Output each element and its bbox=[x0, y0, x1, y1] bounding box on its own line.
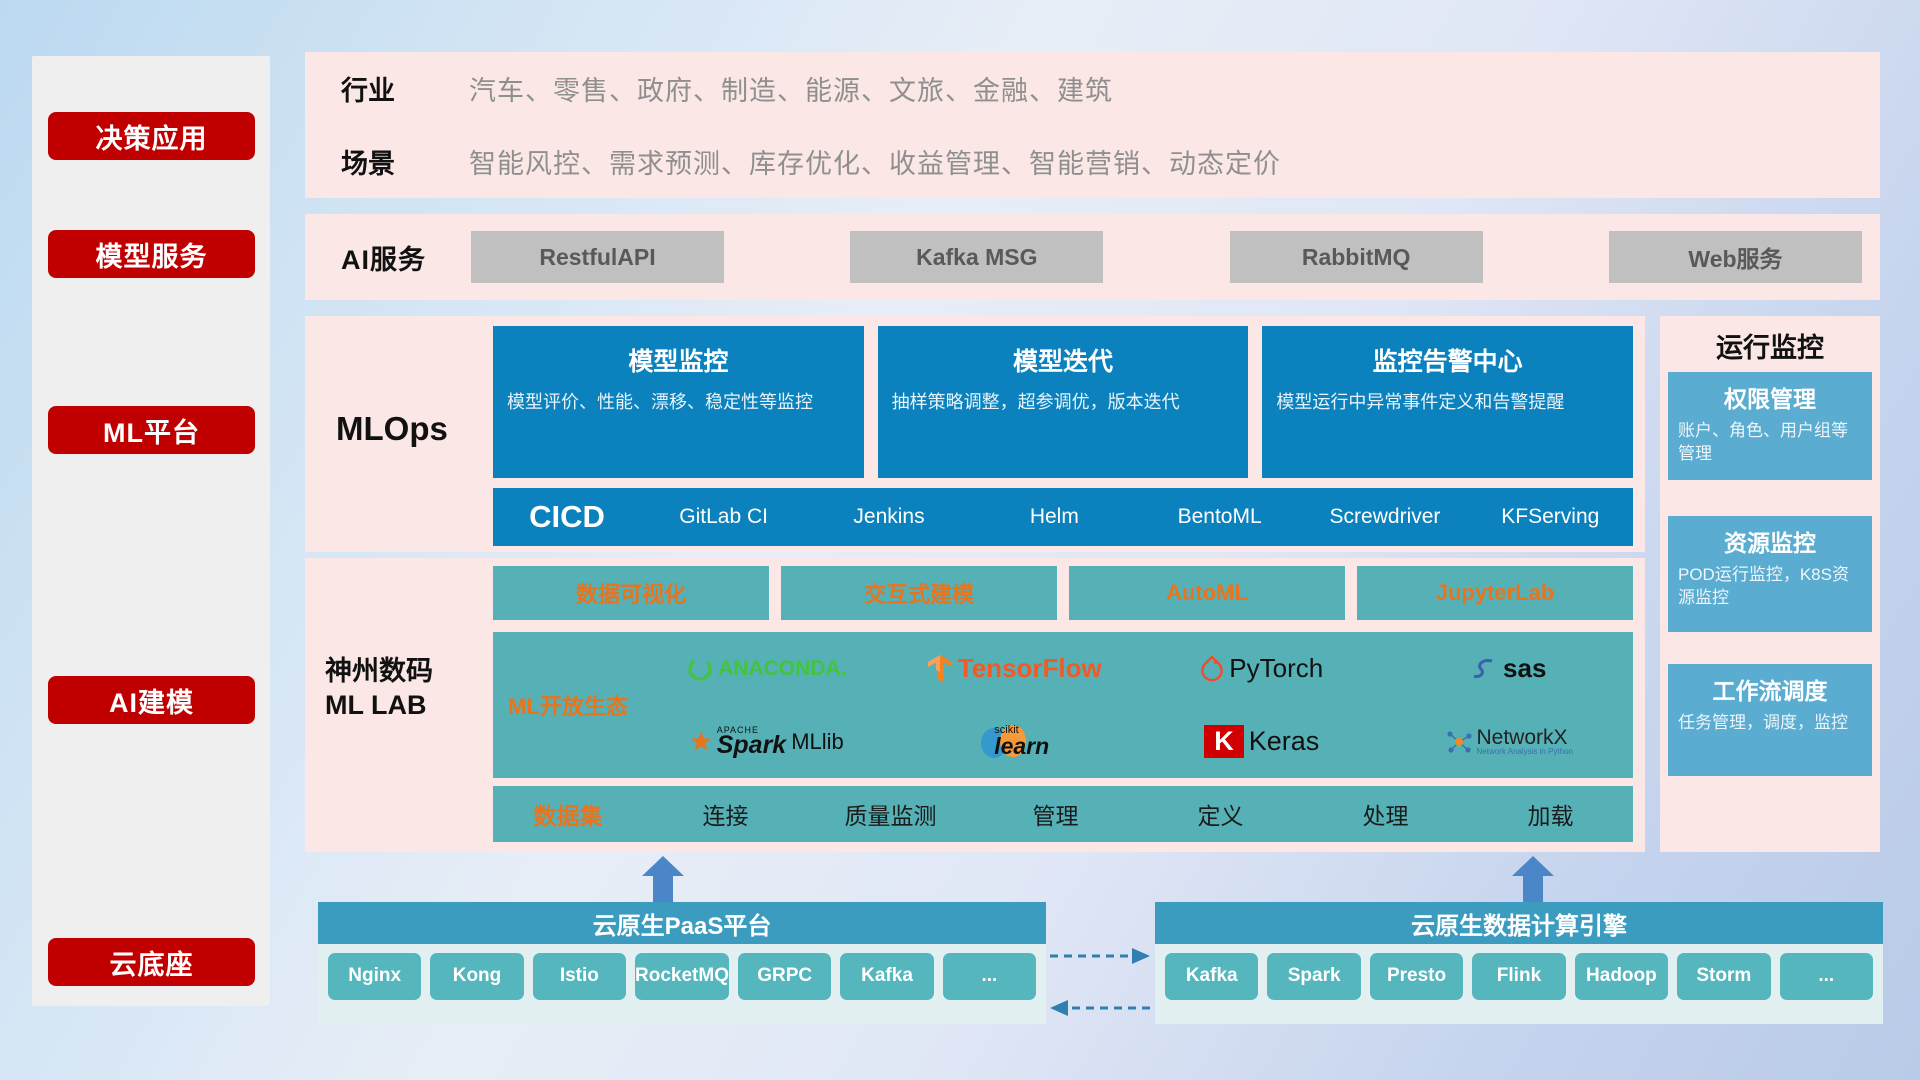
cicd-item-jenkins[interactable]: Jenkins bbox=[806, 505, 971, 529]
tab-interactive-modeling[interactable]: 交互式建模 bbox=[781, 566, 1057, 620]
sas-icon bbox=[1472, 656, 1498, 682]
scenario-values: 智能风控、需求预测、库存优化、收益管理、智能营销、动态定价 bbox=[469, 142, 1281, 181]
ml-lab-label-line1: 神州数码 bbox=[325, 655, 433, 689]
networkx-tagline: Network Analysis in Python bbox=[1477, 748, 1574, 756]
pytorch-label: PyTorch bbox=[1229, 653, 1323, 684]
tensorflow-logo: TensorFlow bbox=[927, 653, 1102, 684]
keras-label: Keras bbox=[1249, 726, 1320, 757]
card-desc: 账户、角色、用户组等管理 bbox=[1678, 420, 1862, 466]
sidebar-item-ai-modeling[interactable]: AI建模 bbox=[48, 676, 255, 724]
spark-mllib-logo: APACHE Spark MLlib bbox=[690, 726, 844, 757]
paas-chip-grpc[interactable]: GRPC bbox=[738, 953, 831, 1000]
cicd-label: CICD bbox=[493, 499, 641, 535]
decision-application-panel: 行业 汽车、零售、政府、制造、能源、文旅、金融、建筑 场景 智能风控、需求预测、… bbox=[305, 52, 1880, 198]
pytorch-logo: PyTorch bbox=[1200, 653, 1323, 684]
anaconda-icon bbox=[687, 656, 713, 682]
sidebar-item-label: 模型服务 bbox=[96, 235, 208, 274]
ml-ecosystem-logos: ANACONDA. TensorFlow PyTorch bbox=[643, 632, 1633, 778]
sidebar-item-decision-app[interactable]: 决策应用 bbox=[48, 112, 255, 160]
networkx-logo: NetworkX Network Analysis in Python bbox=[1446, 727, 1574, 756]
paas-chip-kafka[interactable]: Kafka bbox=[840, 953, 933, 1000]
networkx-label: NetworkX bbox=[1477, 727, 1574, 748]
sas-logo: sas bbox=[1472, 653, 1546, 684]
card-title: 工作流调度 bbox=[1678, 672, 1862, 706]
paas-title: 云原生PaaS平台 bbox=[318, 902, 1046, 944]
card-title: 监控告警中心 bbox=[1276, 342, 1619, 378]
cicd-item-gitlab-ci[interactable]: GitLab CI bbox=[641, 505, 806, 529]
mlops-card-model-monitoring[interactable]: 模型监控 模型评价、性能、漂移、稳定性等监控 bbox=[493, 326, 864, 478]
dataset-item-connect[interactable]: 连接 bbox=[643, 797, 808, 831]
spark-label: Spark bbox=[717, 734, 786, 757]
tensorflow-icon bbox=[927, 654, 953, 684]
monitor-card-workflow[interactable]: 工作流调度 任务管理，调度，监控 bbox=[1668, 664, 1872, 776]
card-desc: 任务管理，调度，监控 bbox=[1678, 712, 1862, 735]
engine-chip-spark[interactable]: Spark bbox=[1267, 953, 1360, 1000]
card-desc: POD运行监控，K8S资源监控 bbox=[1678, 564, 1862, 610]
card-desc: 模型运行中异常事件定义和告警提醒 bbox=[1276, 390, 1619, 414]
cicd-item-helm[interactable]: Helm bbox=[972, 505, 1137, 529]
card-title: 资源监控 bbox=[1678, 524, 1862, 558]
sidebar-item-label: 决策应用 bbox=[96, 117, 208, 156]
bidirectional-connector-icons bbox=[1046, 940, 1156, 1030]
engine-up-arrow-icon bbox=[1510, 856, 1556, 902]
mlops-label: MLOps bbox=[336, 410, 448, 448]
engine-chip-presto[interactable]: Presto bbox=[1370, 953, 1463, 1000]
keras-mark-icon: K bbox=[1204, 725, 1244, 758]
sidebar-item-cloud-foundation[interactable]: 云底座 bbox=[48, 938, 255, 986]
keras-logo: K Keras bbox=[1204, 725, 1319, 758]
anaconda-label: ANACONDA. bbox=[718, 657, 846, 681]
sidebar-rail bbox=[32, 56, 270, 1006]
paas-chip-more[interactable]: ... bbox=[943, 953, 1036, 1000]
monitor-card-resource[interactable]: 资源监控 POD运行监控，K8S资源监控 bbox=[1668, 516, 1872, 632]
spark-wordmark: APACHE Spark bbox=[717, 726, 786, 757]
card-title: 模型监控 bbox=[507, 342, 850, 378]
dataset-item-process[interactable]: 处理 bbox=[1303, 797, 1468, 831]
ai-service-button-kafka-msg[interactable]: Kafka MSG bbox=[850, 231, 1103, 283]
card-desc: 模型评价、性能、漂移、稳定性等监控 bbox=[507, 390, 850, 414]
cicd-item-screwdriver[interactable]: Screwdriver bbox=[1302, 505, 1467, 529]
engine-chip-hadoop[interactable]: Hadoop bbox=[1575, 953, 1668, 1000]
paas-chip-nginx[interactable]: Nginx bbox=[328, 953, 421, 1000]
mlops-card-model-iteration[interactable]: 模型迭代 抽样策略调整，超参调优，版本迭代 bbox=[878, 326, 1249, 478]
ml-lab-label-line2: ML LAB bbox=[325, 689, 433, 723]
anaconda-logo: ANACONDA. bbox=[687, 656, 846, 682]
sidebar-item-label: ML平台 bbox=[103, 411, 200, 450]
engine-chip-kafka[interactable]: Kafka bbox=[1165, 953, 1258, 1000]
tab-jupyterlab[interactable]: JupyterLab bbox=[1357, 566, 1633, 620]
ai-service-button-restfulapi[interactable]: RestfulAPI bbox=[471, 231, 724, 283]
paas-chip-istio[interactable]: Istio bbox=[533, 953, 626, 1000]
ai-service-button-rabbitmq[interactable]: RabbitMQ bbox=[1230, 231, 1483, 283]
industry-values: 汽车、零售、政府、制造、能源、文旅、金融、建筑 bbox=[469, 69, 1113, 108]
paas-box: 云原生PaaS平台 Nginx Kong Istio RocketMQ GRPC… bbox=[318, 902, 1046, 1024]
dataset-item-quality-monitor[interactable]: 质量监测 bbox=[808, 797, 973, 831]
networkx-icon bbox=[1446, 729, 1472, 755]
scenario-row: 场景 智能风控、需求预测、库存优化、收益管理、智能营销、动态定价 bbox=[305, 125, 1880, 198]
scikit-wordmark: scikit learn bbox=[994, 725, 1049, 757]
sidebar-item-model-service[interactable]: 模型服务 bbox=[48, 230, 255, 278]
cicd-item-bentoml[interactable]: BentoML bbox=[1137, 505, 1302, 529]
learn-label: learn bbox=[994, 736, 1049, 758]
sidebar-item-ml-platform[interactable]: ML平台 bbox=[48, 406, 255, 454]
dataset-item-define[interactable]: 定义 bbox=[1138, 797, 1303, 831]
cicd-bar: CICD GitLab CI Jenkins Helm BentoML Scre… bbox=[493, 488, 1633, 546]
ml-lab-tabs: 数据可视化 交互式建模 AutoML JupyterLab bbox=[493, 566, 1633, 620]
ai-service-button-web-service[interactable]: Web服务 bbox=[1609, 231, 1862, 283]
dataset-bar: 数据集 连接 质量监测 管理 定义 处理 加载 bbox=[493, 786, 1633, 842]
monitor-card-permission[interactable]: 权限管理 账户、角色、用户组等管理 bbox=[1668, 372, 1872, 480]
paas-chip-group: Nginx Kong Istio RocketMQ GRPC Kafka ... bbox=[318, 944, 1046, 1009]
networkx-wordmark: NetworkX Network Analysis in Python bbox=[1477, 727, 1574, 756]
tensorflow-label: TensorFlow bbox=[958, 653, 1102, 684]
sidebar-item-label: 云底座 bbox=[110, 943, 194, 982]
pytorch-icon bbox=[1200, 655, 1224, 683]
paas-chip-rocketmq[interactable]: RocketMQ bbox=[635, 953, 729, 1000]
paas-up-arrow-icon bbox=[640, 856, 686, 902]
card-desc: 抽样策略调整，超参调优，版本迭代 bbox=[892, 390, 1235, 414]
card-title: 模型迭代 bbox=[892, 342, 1235, 378]
engine-chip-more[interactable]: ... bbox=[1780, 953, 1873, 1000]
dataset-item-manage[interactable]: 管理 bbox=[973, 797, 1138, 831]
paas-chip-kong[interactable]: Kong bbox=[430, 953, 523, 1000]
ai-service-panel: AI服务 RestfulAPI Kafka MSG RabbitMQ Web服务 bbox=[305, 214, 1880, 300]
mllib-label: MLlib bbox=[791, 729, 844, 755]
mlops-card-group: 模型监控 模型评价、性能、漂移、稳定性等监控 模型迭代 抽样策略调整，超参调优，… bbox=[493, 326, 1633, 478]
spark-star-icon bbox=[690, 731, 712, 753]
engine-box: 云原生数据计算引擎 Kafka Spark Presto Flink Hadoo… bbox=[1155, 902, 1883, 1024]
engine-title: 云原生数据计算引擎 bbox=[1155, 902, 1883, 944]
engine-chip-group: Kafka Spark Presto Flink Hadoop Storm ..… bbox=[1155, 944, 1883, 1009]
ml-ecosystem-label: ML开放生态 bbox=[493, 689, 643, 721]
ai-service-label: AI服务 bbox=[341, 238, 471, 277]
dataset-item-load[interactable]: 加载 bbox=[1468, 797, 1633, 831]
industry-label: 行业 bbox=[341, 69, 469, 108]
engine-chip-flink[interactable]: Flink bbox=[1472, 953, 1565, 1000]
sidebar-item-label: AI建模 bbox=[109, 681, 194, 720]
ml-ecosystem-bar: ML开放生态 ANACONDA. TensorFlow bbox=[493, 632, 1633, 778]
tab-data-visualization[interactable]: 数据可视化 bbox=[493, 566, 769, 620]
dataset-label: 数据集 bbox=[493, 797, 643, 831]
sas-label: sas bbox=[1503, 653, 1546, 684]
card-title: 权限管理 bbox=[1678, 380, 1862, 414]
diagram-canvas: 决策应用 模型服务 ML平台 AI建模 云底座 行业 汽车、零售、政府、制造、能… bbox=[0, 0, 1920, 1080]
mlops-card-alert-center[interactable]: 监控告警中心 模型运行中异常事件定义和告警提醒 bbox=[1262, 326, 1633, 478]
runtime-monitor-title: 运行监控 bbox=[1660, 326, 1880, 365]
scikit-learn-logo: scikit learn bbox=[979, 725, 1049, 759]
industry-row: 行业 汽车、零售、政府、制造、能源、文旅、金融、建筑 bbox=[305, 52, 1880, 125]
scenario-label: 场景 bbox=[341, 142, 469, 181]
cicd-item-kfserving[interactable]: KFServing bbox=[1468, 505, 1633, 529]
engine-chip-storm[interactable]: Storm bbox=[1677, 953, 1770, 1000]
ml-lab-label: 神州数码 ML LAB bbox=[325, 655, 433, 723]
ai-service-buttons: RestfulAPI Kafka MSG RabbitMQ Web服务 bbox=[471, 231, 1880, 283]
tab-automl[interactable]: AutoML bbox=[1069, 566, 1345, 620]
